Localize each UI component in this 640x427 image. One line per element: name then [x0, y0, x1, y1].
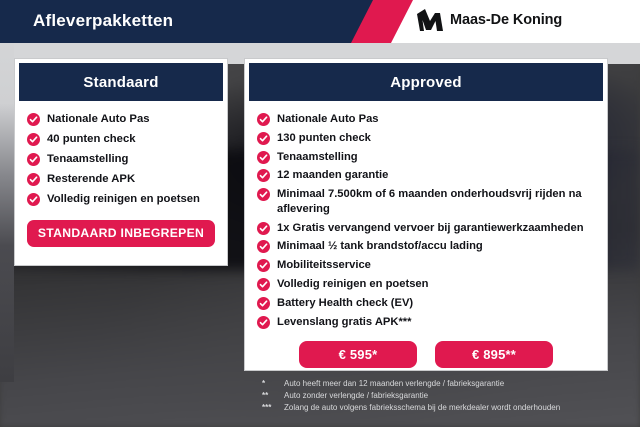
check-circle-icon	[257, 188, 270, 201]
brand-logo: Maas-De Koning	[417, 9, 562, 31]
page-header: Afleverpakketten Maas-De Koning	[0, 0, 640, 43]
check-circle-icon	[257, 278, 270, 291]
price-button-895[interactable]: € 895**	[435, 341, 553, 368]
standaard-inbegrepen-button[interactable]: STANDAARD INBEGREPEN	[27, 220, 215, 247]
check-circle-icon	[257, 316, 270, 329]
card-standaard-title: Standaard	[83, 74, 158, 91]
check-circle-icon	[257, 240, 270, 253]
afleverpakketten-page: Afleverpakketten Maas-De Koning Standaar…	[0, 0, 640, 427]
card-approved-feature-list: Nationale Auto Pas 130 punten check Tena…	[245, 101, 607, 329]
background-left-strip	[0, 42, 14, 382]
list-item: Volledig reinigen en poetsen	[27, 192, 217, 207]
list-item-label: Nationale Auto Pas	[47, 112, 150, 127]
list-item-label: Mobiliteitsservice	[277, 258, 371, 273]
list-item-label: Levenslang gratis APK***	[277, 315, 412, 330]
footnote-text: Zolang de auto volgens fabrieksschema bi…	[284, 403, 560, 413]
list-item: Tenaamstelling	[257, 150, 597, 165]
check-circle-icon	[27, 173, 40, 186]
card-standaard: Standaard Nationale Auto Pas 40 punten c…	[14, 58, 228, 266]
list-item-label: 130 punten check	[277, 131, 371, 146]
footnote-mark: *	[262, 379, 284, 388]
approved-price-row: € 595* € 895**	[245, 341, 607, 368]
list-item: Volledig reinigen en poetsen	[257, 277, 597, 292]
footnote-row: * Auto heeft meer dan 12 maanden verleng…	[262, 379, 560, 389]
check-circle-icon	[257, 151, 270, 164]
card-standaard-header: Standaard	[19, 63, 223, 101]
footnote-row: ** Auto zonder verlengde / fabrieksgaran…	[262, 391, 560, 401]
list-item: Tenaamstelling	[27, 152, 217, 167]
list-item-label: Tenaamstelling	[47, 152, 128, 167]
card-approved-header: Approved	[249, 63, 603, 101]
check-circle-icon	[27, 113, 40, 126]
check-circle-icon	[27, 153, 40, 166]
check-circle-icon	[27, 193, 40, 206]
list-item: Resterende APK	[27, 172, 217, 187]
footnote-row: *** Zolang de auto volgens fabrieksschem…	[262, 403, 560, 413]
list-item-label: Volledig reinigen en poetsen	[47, 192, 200, 207]
list-item-label: Battery Health check (EV)	[277, 296, 413, 311]
card-approved-title: Approved	[390, 74, 462, 91]
check-circle-icon	[27, 133, 40, 146]
check-circle-icon	[257, 259, 270, 272]
brand-name: Maas-De Koning	[450, 12, 562, 28]
check-circle-icon	[257, 222, 270, 235]
list-item-label: Volledig reinigen en poetsen	[277, 277, 428, 292]
list-item: Minimaal ½ tank brandstof/accu lading	[257, 239, 597, 254]
list-item: Minimaal 7.500km of 6 maanden onderhouds…	[257, 187, 597, 217]
list-item: 1x Gratis vervangend vervoer bij garanti…	[257, 221, 597, 236]
list-item-label: 40 punten check	[47, 132, 136, 147]
list-item-label: Minimaal ½ tank brandstof/accu lading	[277, 239, 483, 254]
list-item: Nationale Auto Pas	[257, 112, 597, 127]
check-circle-icon	[257, 132, 270, 145]
check-circle-icon	[257, 113, 270, 126]
list-item: Mobiliteitsservice	[257, 258, 597, 273]
footnotes: * Auto heeft meer dan 12 maanden verleng…	[262, 379, 560, 415]
list-item-label: Nationale Auto Pas	[277, 112, 379, 127]
list-item: Nationale Auto Pas	[27, 112, 217, 127]
card-standaard-cta-wrap: STANDAARD INBEGREPEN	[15, 212, 227, 247]
list-item: 40 punten check	[27, 132, 217, 147]
list-item-label: Tenaamstelling	[277, 150, 358, 165]
check-circle-icon	[257, 169, 270, 182]
footnote-mark: **	[262, 391, 284, 400]
check-circle-icon	[257, 297, 270, 310]
page-title: Afleverpakketten	[33, 11, 173, 31]
list-item: 130 punten check	[257, 131, 597, 146]
list-item: Levenslang gratis APK***	[257, 315, 597, 330]
list-item: 12 maanden garantie	[257, 168, 597, 183]
list-item-label: Minimaal 7.500km of 6 maanden onderhouds…	[277, 187, 597, 217]
list-item-label: 1x Gratis vervangend vervoer bij garanti…	[277, 221, 584, 236]
card-approved: Approved Nationale Auto Pas 130 punten c…	[244, 58, 608, 371]
list-item-label: 12 maanden garantie	[277, 168, 388, 183]
footnote-text: Auto heeft meer dan 12 maanden verlengde…	[284, 379, 504, 389]
price-button-595[interactable]: € 595*	[299, 341, 417, 368]
footnote-text: Auto zonder verlengde / fabrieksgarantie	[284, 391, 428, 401]
maas-de-koning-m-logo-icon	[417, 9, 443, 31]
footnote-mark: ***	[262, 403, 284, 412]
list-item: Battery Health check (EV)	[257, 296, 597, 311]
list-item-label: Resterende APK	[47, 172, 135, 187]
card-standaard-feature-list: Nationale Auto Pas 40 punten check Tenaa…	[15, 101, 227, 207]
